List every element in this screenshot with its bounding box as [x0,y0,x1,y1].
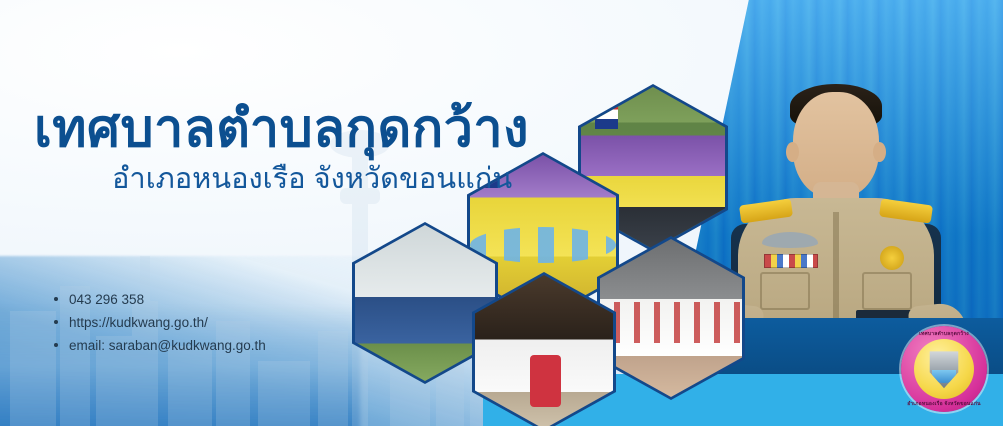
page-subtitle: อำเภอหนองเรือ จังหวัดขอนแก่น [112,155,512,201]
ear-left [786,142,799,162]
epaulette-left [739,198,793,223]
seal-bottom-text: อำเภอหนองเรือ จังหวัดขอนแก่น [901,400,987,408]
insignia-icon [880,246,904,270]
seal-top-text: เทศบาลตำบลกุดกว้าง [901,330,987,338]
contact-website[interactable]: https://kudkwang.go.th/ [52,311,266,334]
pocket-right [862,272,912,310]
pocket-left [760,272,810,310]
wing-badge-icon [762,232,818,248]
ear-right [873,142,886,162]
municipality-seal: เทศบาลตำบลกุดกว้าง อำเภอหนองเรือ จังหวัด… [901,326,987,412]
municipality-banner: เทศบาลตำบลกุดกว้าง อำเภอหนองเรือ จังหวัด… [0,0,1003,426]
contact-email[interactable]: email: saraban@kudkwang.go.th [52,334,266,357]
service-ribbons [764,254,818,268]
contact-list: 043 296 358 https://kudkwang.go.th/ emai… [52,288,266,357]
epaulette-right [879,198,933,223]
contact-phone[interactable]: 043 296 358 [52,288,266,311]
